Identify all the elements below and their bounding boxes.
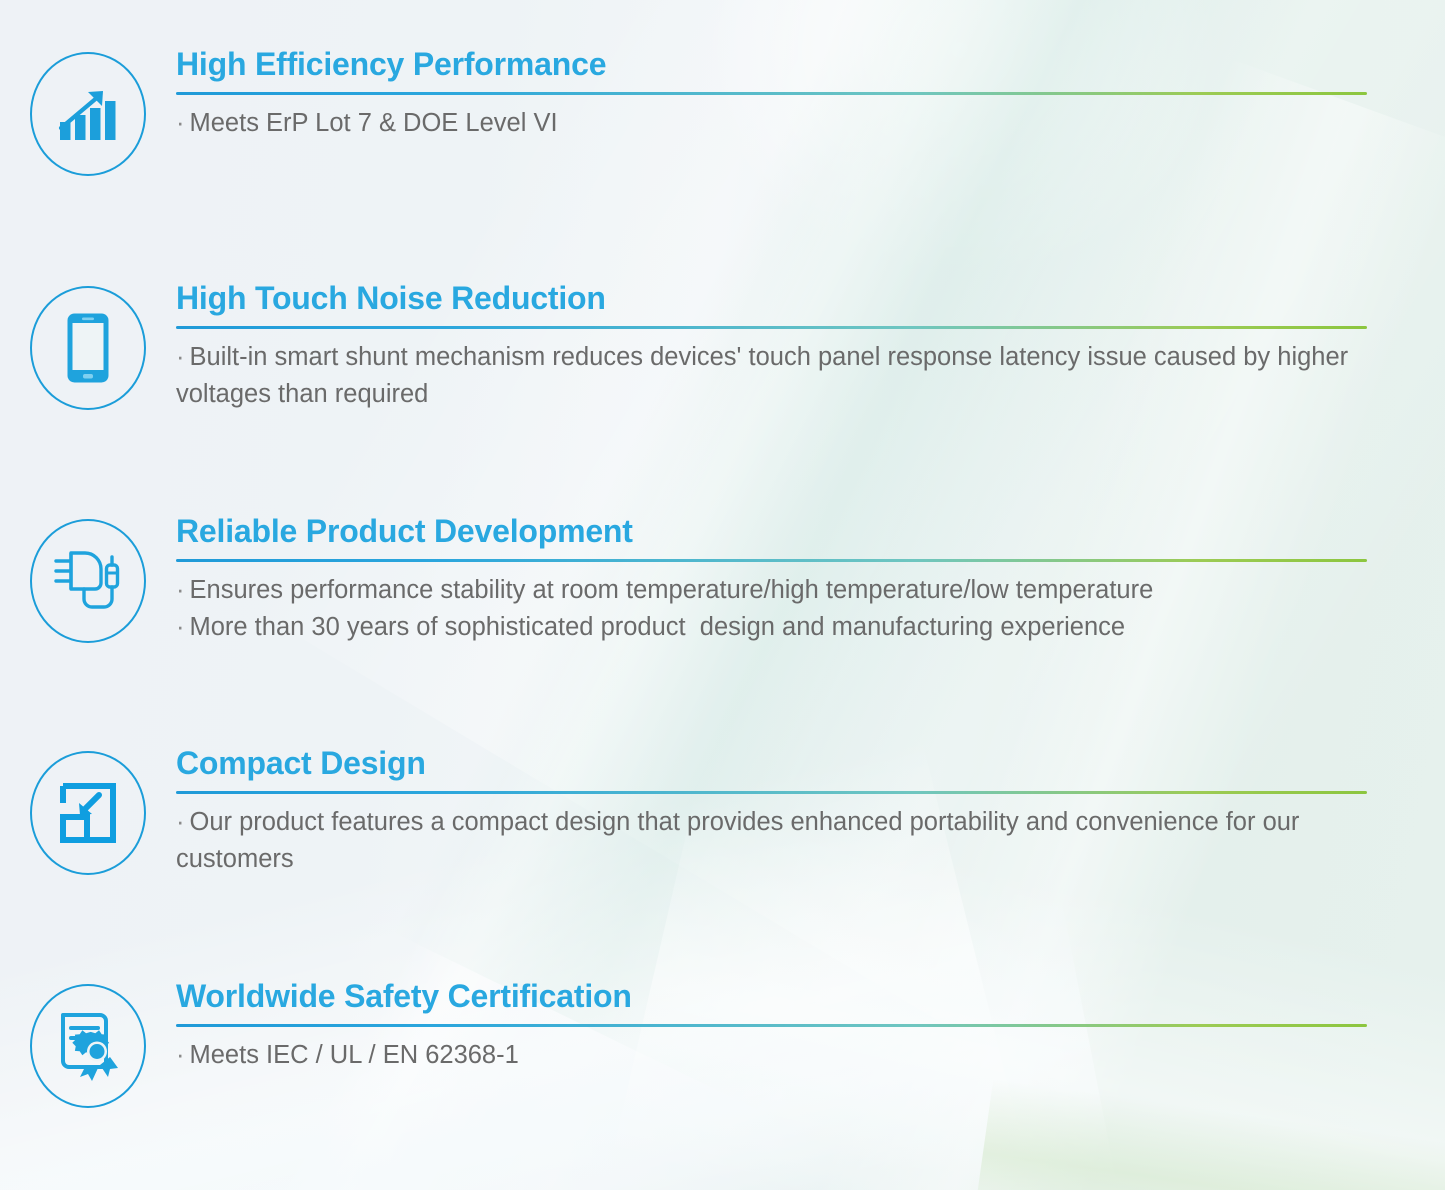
feature-item: High Touch Noise Reduction ·Built-in sma… bbox=[0, 280, 1445, 414]
feature-title: High Touch Noise Reduction bbox=[176, 280, 1367, 318]
feature-content: Worldwide Safety Certification ·Meets IE… bbox=[176, 978, 1445, 1074]
feature-divider bbox=[176, 1024, 1367, 1027]
bullet-marker: · bbox=[176, 1041, 185, 1069]
feature-title: High Efficiency Performance bbox=[176, 46, 1367, 84]
bullet-item: ·Meets ErP Lot 7 & DOE Level VI bbox=[176, 105, 1367, 143]
feature-bullets: ·Built-in smart shunt mechanism reduces … bbox=[176, 339, 1367, 414]
feature-item: Reliable Product Development ·Ensures pe… bbox=[0, 513, 1445, 647]
resize-compact-icon bbox=[58, 781, 118, 845]
feature-icon-container bbox=[0, 46, 176, 176]
bullet-text: Meets ErP Lot 7 & DOE Level VI bbox=[190, 109, 558, 137]
feature-item: High Efficiency Performance ·Meets ErP L… bbox=[0, 46, 1445, 176]
feature-title: Worldwide Safety Certification bbox=[176, 978, 1367, 1016]
feature-divider bbox=[176, 559, 1367, 562]
bullet-marker: · bbox=[176, 613, 185, 641]
bullet-text: More than 30 years of sophisticated prod… bbox=[190, 613, 1126, 641]
power-adapter-icon bbox=[51, 547, 125, 615]
bullet-text: Ensures performance stability at room te… bbox=[190, 576, 1154, 604]
bullet-text: Our product features a compact design th… bbox=[176, 808, 1307, 874]
bullet-item: ·Meets IEC / UL / EN 62368-1 bbox=[176, 1037, 1367, 1075]
feature-content: High Touch Noise Reduction ·Built-in sma… bbox=[176, 280, 1445, 414]
bullet-marker: · bbox=[176, 576, 185, 604]
bullet-text: Built-in smart shunt mechanism reduces d… bbox=[176, 343, 1355, 409]
bullet-marker: · bbox=[176, 343, 185, 371]
feature-content: Reliable Product Development ·Ensures pe… bbox=[176, 513, 1445, 647]
bullet-item: ·Our product features a compact design t… bbox=[176, 804, 1367, 879]
feature-bullets: ·Ensures performance stability at room t… bbox=[176, 572, 1367, 647]
feature-title: Compact Design bbox=[176, 745, 1367, 783]
feature-divider bbox=[176, 92, 1367, 95]
feature-divider bbox=[176, 791, 1367, 794]
feature-content: Compact Design ·Our product features a c… bbox=[176, 745, 1445, 879]
smartphone-icon bbox=[66, 312, 110, 384]
bullet-item: ·More than 30 years of sophisticated pro… bbox=[176, 609, 1367, 647]
icon-circle-frame bbox=[30, 984, 146, 1108]
feature-content: High Efficiency Performance ·Meets ErP L… bbox=[176, 46, 1445, 142]
feature-list-page: High Efficiency Performance ·Meets ErP L… bbox=[0, 0, 1445, 1190]
feature-divider bbox=[176, 326, 1367, 329]
bullet-text: Meets IEC / UL / EN 62368-1 bbox=[190, 1041, 519, 1069]
feature-item: Worldwide Safety Certification ·Meets IE… bbox=[0, 978, 1445, 1108]
feature-icon-container bbox=[0, 513, 176, 643]
bullet-item: ·Built-in smart shunt mechanism reduces … bbox=[176, 339, 1367, 414]
feature-bullets: ·Our product features a compact design t… bbox=[176, 804, 1367, 879]
certificate-award-icon bbox=[56, 1011, 120, 1081]
bullet-item: ·Ensures performance stability at room t… bbox=[176, 572, 1367, 610]
feature-icon-container bbox=[0, 280, 176, 410]
icon-circle-frame bbox=[30, 286, 146, 410]
feature-title: Reliable Product Development bbox=[176, 513, 1367, 551]
icon-circle-frame bbox=[30, 519, 146, 643]
feature-bullets: ·Meets ErP Lot 7 & DOE Level VI bbox=[176, 105, 1367, 143]
feature-icon-container bbox=[0, 745, 176, 875]
bullet-marker: · bbox=[176, 109, 185, 137]
feature-icon-container bbox=[0, 978, 176, 1108]
feature-bullets: ·Meets IEC / UL / EN 62368-1 bbox=[176, 1037, 1367, 1075]
bar-chart-growth-icon bbox=[57, 84, 119, 144]
feature-item: Compact Design ·Our product features a c… bbox=[0, 745, 1445, 879]
icon-circle-frame bbox=[30, 751, 146, 875]
icon-circle-frame bbox=[30, 52, 146, 176]
bullet-marker: · bbox=[176, 808, 185, 836]
